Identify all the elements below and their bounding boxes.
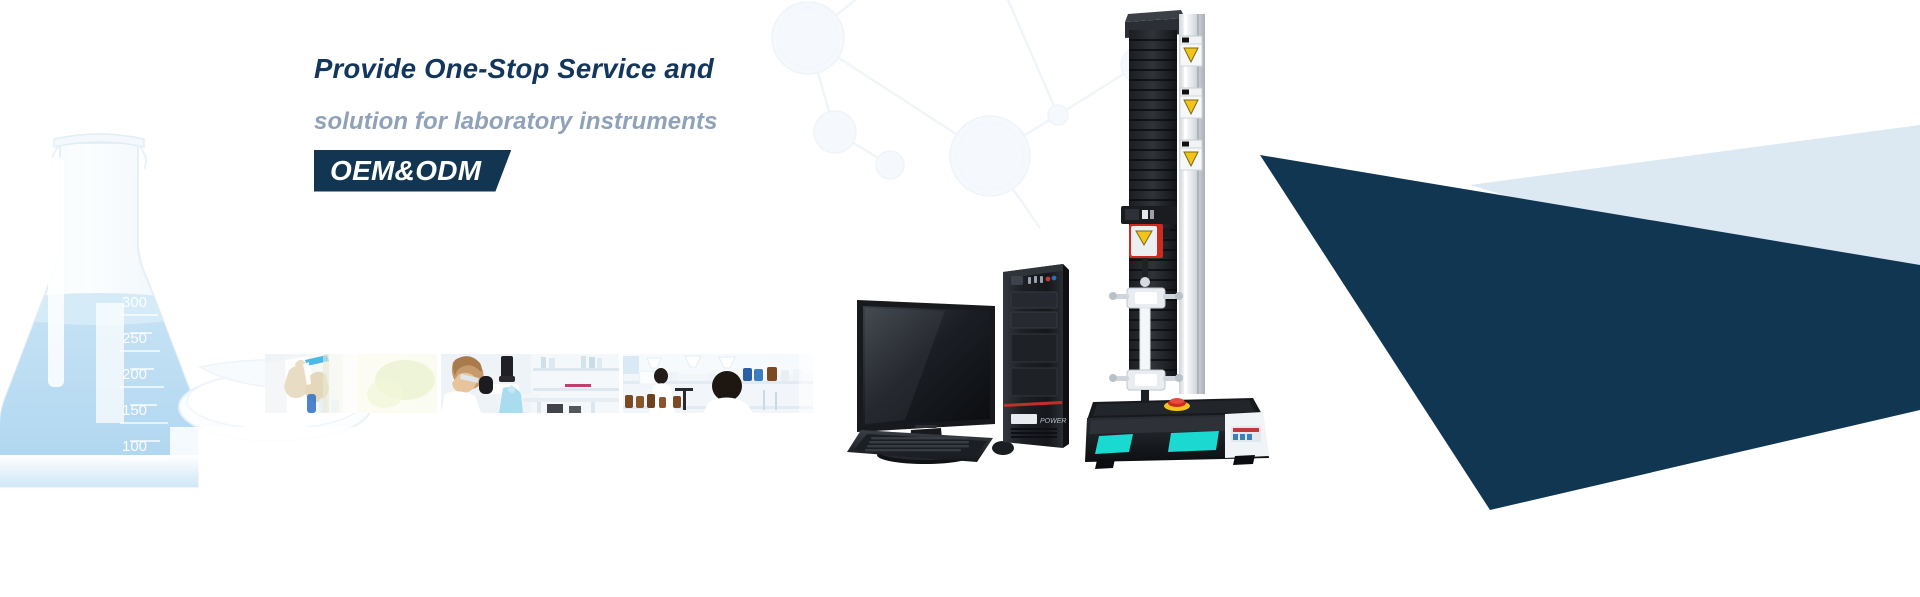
keyboard bbox=[847, 430, 993, 462]
svg-text:300: 300 bbox=[122, 294, 147, 311]
svg-text:100: 100 bbox=[122, 438, 147, 455]
hero-banner: 300 250 200 150 100 bbox=[0, 0, 1920, 597]
warning-hazard-sticker bbox=[1180, 36, 1202, 170]
photo-pipetting-test-tubes[interactable] bbox=[265, 354, 437, 413]
headline-line-2: solution for laboratory instruments bbox=[314, 110, 954, 134]
svg-text:150: 150 bbox=[122, 402, 147, 419]
photo-laboratory-bench[interactable] bbox=[623, 354, 813, 413]
oem-odm-label: OEM&ODM bbox=[330, 150, 481, 192]
svg-text:200: 200 bbox=[122, 366, 147, 383]
lower-grip bbox=[1109, 370, 1183, 390]
photo-microscope-researcher[interactable] bbox=[441, 354, 619, 413]
light-blue-arrow-shape bbox=[1470, 125, 1920, 320]
upper-grip bbox=[1109, 288, 1183, 308]
headline-block: Provide One-Stop Service and solution fo… bbox=[314, 55, 954, 192]
arrow-decor-group bbox=[1180, 80, 1920, 510]
photo-strip bbox=[265, 354, 813, 413]
bottom-fade bbox=[0, 557, 1920, 597]
oem-odm-badge: OEM&ODM bbox=[314, 150, 511, 192]
svg-text:250: 250 bbox=[122, 330, 147, 347]
headline-line-1: Provide One-Stop Service and bbox=[314, 55, 954, 83]
mouse bbox=[992, 441, 1014, 455]
navy-arrow-shape bbox=[1260, 155, 1920, 510]
universal-testing-machine bbox=[1085, 0, 1275, 470]
svg-text:POWER: POWER bbox=[1040, 418, 1066, 425]
pc-tower: POWER bbox=[1003, 264, 1069, 448]
desktop-monitor bbox=[857, 300, 995, 464]
